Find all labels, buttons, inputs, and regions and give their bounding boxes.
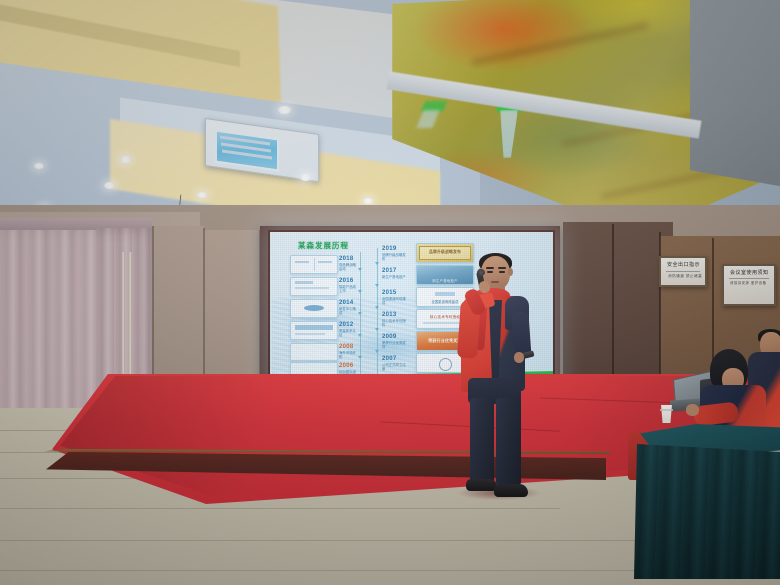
speaker-mouth <box>491 281 499 283</box>
speaker-eyebrow <box>498 267 506 269</box>
card-label: 新生产基地投产 <box>417 278 473 283</box>
ceiling-downlight <box>104 182 115 189</box>
timeline-arrow <box>375 262 379 265</box>
sign-rule <box>729 278 769 279</box>
card-graphic <box>295 333 325 335</box>
floor-plank <box>0 540 700 541</box>
card-divider <box>314 258 315 271</box>
timeline-arrow <box>375 350 379 353</box>
timeline-year: 2006 <box>339 363 354 369</box>
timeline-year: 2009 <box>382 334 397 340</box>
timeline-desc: 核心技术专利授权 <box>382 319 408 328</box>
timeline-card-left <box>290 321 338 340</box>
timeline-year: 2013 <box>382 312 397 318</box>
speaker-ear <box>508 268 513 276</box>
timeline-year: 2007 <box>382 356 397 362</box>
timeline-card: 品牌升级战略发布 <box>416 243 474 263</box>
timeline-desc: 荣获行业优秀奖项 <box>382 341 408 350</box>
card-graphic <box>318 261 332 263</box>
timeline-year: 2014 <box>339 300 354 306</box>
card-logo-icon <box>439 358 452 371</box>
audience-1-hand <box>686 404 699 416</box>
timeline-card-left <box>290 343 338 361</box>
card-graphic <box>295 281 313 284</box>
timeline-card: 新生产基地投产 <box>416 265 474 285</box>
timeline-desc: 研发中心落成 <box>339 307 359 316</box>
timeline-year: 2018 <box>339 256 354 262</box>
timeline-arrow <box>375 328 379 331</box>
timeline-desc: 全国渠道网络建成 <box>382 297 408 306</box>
card-graphic <box>295 261 309 263</box>
wall-sign-1: 安全出口指示 消防通道 禁止堵塞 <box>659 256 707 287</box>
timeline-card-left <box>290 255 338 274</box>
ceiling-grey-strip-right <box>690 0 780 190</box>
card-graphic <box>304 305 324 311</box>
ceiling-downlight <box>278 106 291 114</box>
wall-sign-2-sub: 请保持安静 爱护设备 <box>730 281 770 286</box>
timeline-desc: 公司正式成立注册 <box>382 363 408 372</box>
timeline-desc: 品牌升级战略发布 <box>382 253 408 262</box>
timeline-year: 2015 <box>382 290 397 296</box>
speaker-leg-left <box>470 398 494 484</box>
timeline-desc: 新生产基地投产 <box>382 275 408 279</box>
timeline-year: 2012 <box>339 322 354 328</box>
wall-pipe <box>129 252 132 388</box>
timeline-desc: 海外市场开拓 <box>339 351 359 360</box>
speaker-leg-right <box>496 398 521 486</box>
ceiling-downlight <box>120 156 131 163</box>
timeline-year: 2008 <box>339 344 354 350</box>
speaker-eye <box>487 271 493 273</box>
timeline-year: 2016 <box>339 278 354 284</box>
speaker-hand-right <box>514 352 524 363</box>
timeline-card-left <box>290 299 338 318</box>
timeline-desc: 质量体系认证 <box>339 329 359 338</box>
speaker-shoe-left <box>466 479 497 491</box>
slide-title: 某森发展历程 <box>298 240 349 251</box>
timeline-card-left <box>290 277 338 296</box>
speaker-eyebrow <box>486 267 494 269</box>
conference-room-photo: 安全出口指示 消防通道 禁止堵塞 会议室使用须知 请保持安静 爱护设备 某森发展… <box>0 0 780 585</box>
card-label: 品牌升级战略发布 <box>417 250 473 255</box>
timeline-year: 2019 <box>382 246 397 252</box>
timeline-desc: 智能产品线上市 <box>339 285 359 294</box>
card-graphic <box>295 325 333 330</box>
wall-sign-2-title: 会议室使用须知 <box>730 269 769 276</box>
timeline-arrow <box>375 284 379 287</box>
sign-rule <box>666 271 700 272</box>
card-graphic <box>295 287 329 289</box>
timeline-desc: 双品牌战略启动 <box>339 263 359 272</box>
paper-cup-band <box>660 409 673 411</box>
microphone-head-icon <box>477 269 485 276</box>
table-skirt-shading <box>634 444 780 579</box>
ceiling-downlight <box>300 174 311 181</box>
speaker-eye <box>499 271 505 273</box>
wall-pipe <box>122 252 125 384</box>
timeline-axis-right <box>377 248 378 376</box>
wall-sign-1-sub: 消防通道 禁止堵塞 <box>668 274 702 279</box>
card-graphic <box>435 292 455 296</box>
ceiling-downlight <box>34 163 44 169</box>
speaker-shoe-right <box>494 484 528 497</box>
wall-sign-1-title: 安全出口指示 <box>667 261 700 268</box>
ceiling-downlight <box>363 198 373 204</box>
floor-plank <box>0 508 560 509</box>
timeline-year: 2017 <box>382 268 397 274</box>
wall-sign-2: 会议室使用须知 请保持安静 爱护设备 <box>722 264 776 306</box>
timeline-arrow <box>375 306 379 309</box>
